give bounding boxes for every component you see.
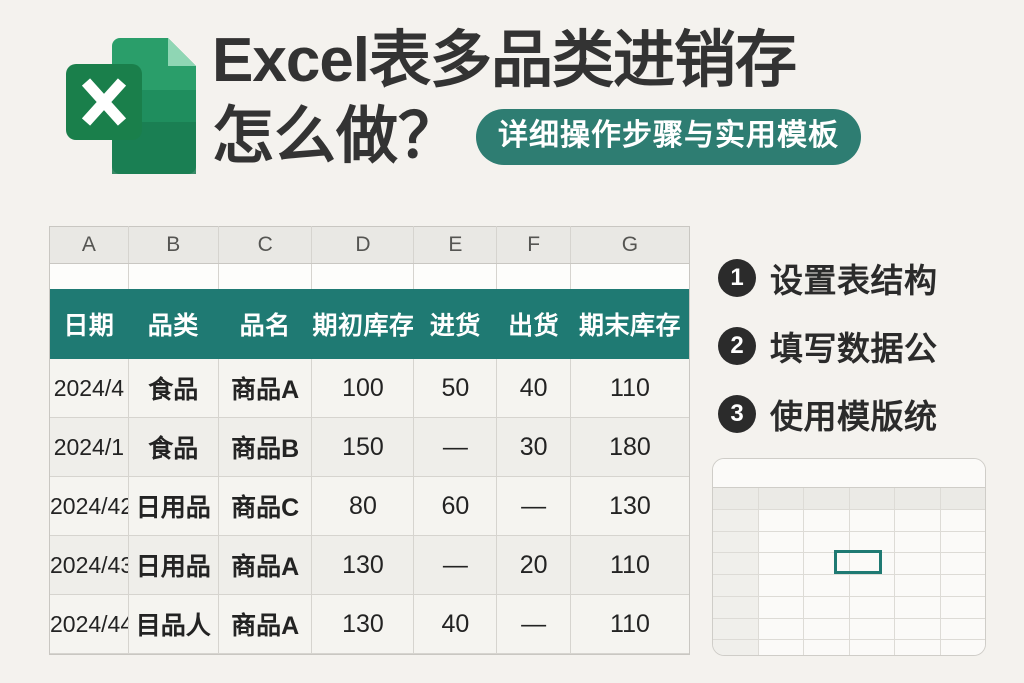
field-header-closing-stock[interactable]: 期末库存 [570, 289, 689, 359]
cell-closing-stock[interactable]: 110 [570, 595, 689, 654]
mini-grid-header-strip [713, 459, 985, 488]
cell-category[interactable]: 目品人 [128, 595, 218, 654]
cell-product[interactable]: 商品A [218, 359, 312, 418]
mini-grid-row [713, 619, 985, 641]
cell-date[interactable]: 2024/1 [50, 418, 128, 477]
title-block: Excel表多品类进销存 怎么做？ 详细操作步骤与实用模板 [212, 24, 1012, 174]
list-item: 3 使用模版统 [718, 380, 1018, 448]
mini-grid-card [712, 458, 986, 656]
mini-grid-cell[interactable] [759, 575, 805, 596]
column-letter-f[interactable]: F [497, 227, 571, 264]
mini-grid-cell[interactable] [713, 619, 759, 640]
field-header-row: 日期 品类 品名 期初库存 进货 出货 期末库存 [50, 289, 689, 359]
field-header-date[interactable]: 日期 [50, 289, 128, 359]
mini-grid-cell[interactable] [850, 640, 896, 656]
mini-grid-cell[interactable] [713, 553, 759, 574]
mini-grid-cell[interactable] [759, 640, 805, 656]
mini-grid-row [713, 597, 985, 619]
step-label: 使用模版统 [770, 390, 938, 438]
mini-grid-cell[interactable] [941, 619, 986, 640]
column-letter-g[interactable]: G [570, 227, 689, 264]
title-second-row: 怎么做？ 详细操作步骤与实用模板 [212, 100, 1012, 174]
column-letter-b[interactable]: B [128, 227, 218, 264]
table-row: 2024/42 日用品 商品C 80 60 — 130 [50, 477, 689, 536]
mini-grid-cell[interactable] [804, 575, 850, 596]
mini-grid-cell[interactable] [804, 510, 850, 531]
cell-date[interactable]: 2024/4 [50, 359, 128, 418]
field-header-opening-stock[interactable]: 期初库存 [312, 289, 414, 359]
mini-grid-row [713, 575, 985, 597]
mini-grid-cell[interactable] [895, 488, 941, 509]
mini-grid-cell[interactable] [713, 597, 759, 618]
blank-cell[interactable] [414, 264, 497, 290]
list-item: 2 填写数据公 [718, 312, 1018, 380]
cell-purchase[interactable]: — [414, 536, 497, 595]
subtitle-badge: 详细操作步骤与实用模板 [476, 109, 861, 165]
blank-cell[interactable] [497, 264, 571, 290]
mini-grid-cell[interactable] [759, 597, 805, 618]
cell-category[interactable]: 日用品 [128, 536, 218, 595]
mini-grid-cell[interactable] [759, 510, 805, 531]
cell-category[interactable]: 日用品 [128, 477, 218, 536]
table-row: 2024/4 食品 商品A 100 50 40 110 [50, 359, 689, 418]
mini-grid-cell[interactable] [713, 488, 759, 509]
field-header-purchase[interactable]: 进货 [414, 289, 497, 359]
column-letter-c[interactable]: C [218, 227, 312, 264]
cell-purchase[interactable]: 60 [414, 477, 497, 536]
excel-file-icon [48, 28, 200, 184]
blank-cell[interactable] [218, 264, 312, 290]
column-letter-e[interactable]: E [414, 227, 497, 264]
mini-grid-cell[interactable] [850, 510, 896, 531]
mini-grid-cell[interactable] [713, 532, 759, 553]
mini-grid-cell[interactable] [759, 553, 805, 574]
cell-closing-stock[interactable]: 110 [570, 359, 689, 418]
cell-shipment[interactable]: 30 [497, 418, 571, 477]
mini-grid-body [713, 488, 985, 654]
step-number-badge: 1 [718, 259, 756, 297]
column-letter-row: A B C D E F G [50, 227, 689, 264]
cell-category[interactable]: 食品 [128, 359, 218, 418]
mini-grid-selection-outline[interactable] [834, 550, 882, 574]
cell-date[interactable]: 2024/43 [50, 536, 128, 595]
mini-grid-cell[interactable] [804, 640, 850, 656]
mini-grid-cell[interactable] [895, 640, 941, 656]
field-header-shipment[interactable]: 出货 [497, 289, 571, 359]
blank-row [50, 264, 689, 290]
page-title-line-1: Excel表多品类进销存 [212, 24, 1012, 98]
step-label: 填写数据公 [770, 322, 938, 370]
cell-opening-stock[interactable]: 130 [312, 536, 414, 595]
cell-opening-stock[interactable]: 130 [312, 595, 414, 654]
mini-grid-cell[interactable] [941, 532, 986, 553]
cell-purchase[interactable]: 50 [414, 359, 497, 418]
cell-opening-stock[interactable]: 100 [312, 359, 414, 418]
blank-cell[interactable] [570, 264, 689, 290]
mini-grid-cell[interactable] [713, 640, 759, 656]
table-row: 2024/43 日用品 商品A 130 — 20 110 [50, 536, 689, 595]
cell-closing-stock[interactable]: 130 [570, 477, 689, 536]
mini-grid-cell[interactable] [850, 575, 896, 596]
mini-grid-cell[interactable] [941, 553, 986, 574]
blank-cell[interactable] [128, 264, 218, 290]
table-row: 2024/1 食品 商品B 150 — 30 180 [50, 418, 689, 477]
mini-grid-cell[interactable] [895, 619, 941, 640]
mini-grid-cell[interactable] [895, 575, 941, 596]
field-header-category[interactable]: 品类 [128, 289, 218, 359]
mini-grid-cell[interactable] [759, 619, 805, 640]
mini-grid-row [713, 510, 985, 532]
field-header-product[interactable]: 品名 [218, 289, 312, 359]
step-label: 设置表结构 [770, 254, 938, 302]
mini-grid-cell[interactable] [941, 575, 986, 596]
mini-grid-cell[interactable] [895, 597, 941, 618]
mini-grid-cell[interactable] [713, 575, 759, 596]
mini-grid-cell[interactable] [941, 510, 986, 531]
inventory-table: A B C D E F G 日期 品类 品名 [50, 226, 689, 654]
column-letter-d[interactable]: D [312, 227, 414, 264]
cell-product[interactable]: 商品B [218, 418, 312, 477]
spreadsheet-table: A B C D E F G 日期 品类 品名 [49, 226, 690, 655]
mini-grid-cell[interactable] [759, 488, 805, 509]
cell-purchase[interactable]: — [414, 418, 497, 477]
cell-purchase[interactable]: 40 [414, 595, 497, 654]
mini-grid-cell[interactable] [850, 488, 896, 509]
mini-grid-cell[interactable] [941, 597, 986, 618]
cell-product[interactable]: 商品C [218, 477, 312, 536]
cell-category[interactable]: 食品 [128, 418, 218, 477]
step-number-badge: 3 [718, 395, 756, 433]
mini-grid-cell[interactable] [941, 488, 986, 509]
step-number-badge: 2 [718, 327, 756, 365]
mini-grid-cell[interactable] [895, 510, 941, 531]
table-row: 2024/44 目品人 商品A 130 40 — 110 [50, 595, 689, 654]
cell-opening-stock[interactable]: 80 [312, 477, 414, 536]
header-banner: Excel表多品类进销存 怎么做？ 详细操作步骤与实用模板 [0, 0, 1024, 210]
cell-shipment[interactable]: — [497, 595, 571, 654]
cell-date[interactable]: 2024/42 [50, 477, 128, 536]
cell-product[interactable]: 商品A [218, 536, 312, 595]
blank-cell[interactable] [312, 264, 414, 290]
mini-grid-row [713, 640, 985, 656]
mini-grid-cell[interactable] [804, 597, 850, 618]
mini-grid-row [713, 488, 985, 510]
mini-grid-cell[interactable] [895, 532, 941, 553]
cell-shipment[interactable]: — [497, 477, 571, 536]
mini-grid-cell[interactable] [759, 532, 805, 553]
mini-grid-cell[interactable] [850, 597, 896, 618]
steps-list: 1 设置表结构 2 填写数据公 3 使用模版统 [718, 244, 1018, 448]
cell-shipment[interactable]: 20 [497, 536, 571, 595]
cell-opening-stock[interactable]: 150 [312, 418, 414, 477]
mini-grid-cell[interactable] [804, 619, 850, 640]
cell-closing-stock[interactable]: 180 [570, 418, 689, 477]
mini-grid-cell[interactable] [850, 619, 896, 640]
page-title-line-2: 怎么做？ [212, 100, 460, 174]
mini-grid-cell[interactable] [804, 488, 850, 509]
mini-grid-cell[interactable] [895, 553, 941, 574]
cell-date[interactable]: 2024/44 [50, 595, 128, 654]
column-letter-a[interactable]: A [50, 227, 128, 264]
cell-closing-stock[interactable]: 110 [570, 536, 689, 595]
cell-product[interactable]: 商品A [218, 595, 312, 654]
list-item: 1 设置表结构 [718, 244, 1018, 312]
cell-shipment[interactable]: 40 [497, 359, 571, 418]
mini-grid-cell[interactable] [713, 510, 759, 531]
blank-cell[interactable] [50, 264, 128, 290]
mini-grid-cell[interactable] [941, 640, 986, 656]
